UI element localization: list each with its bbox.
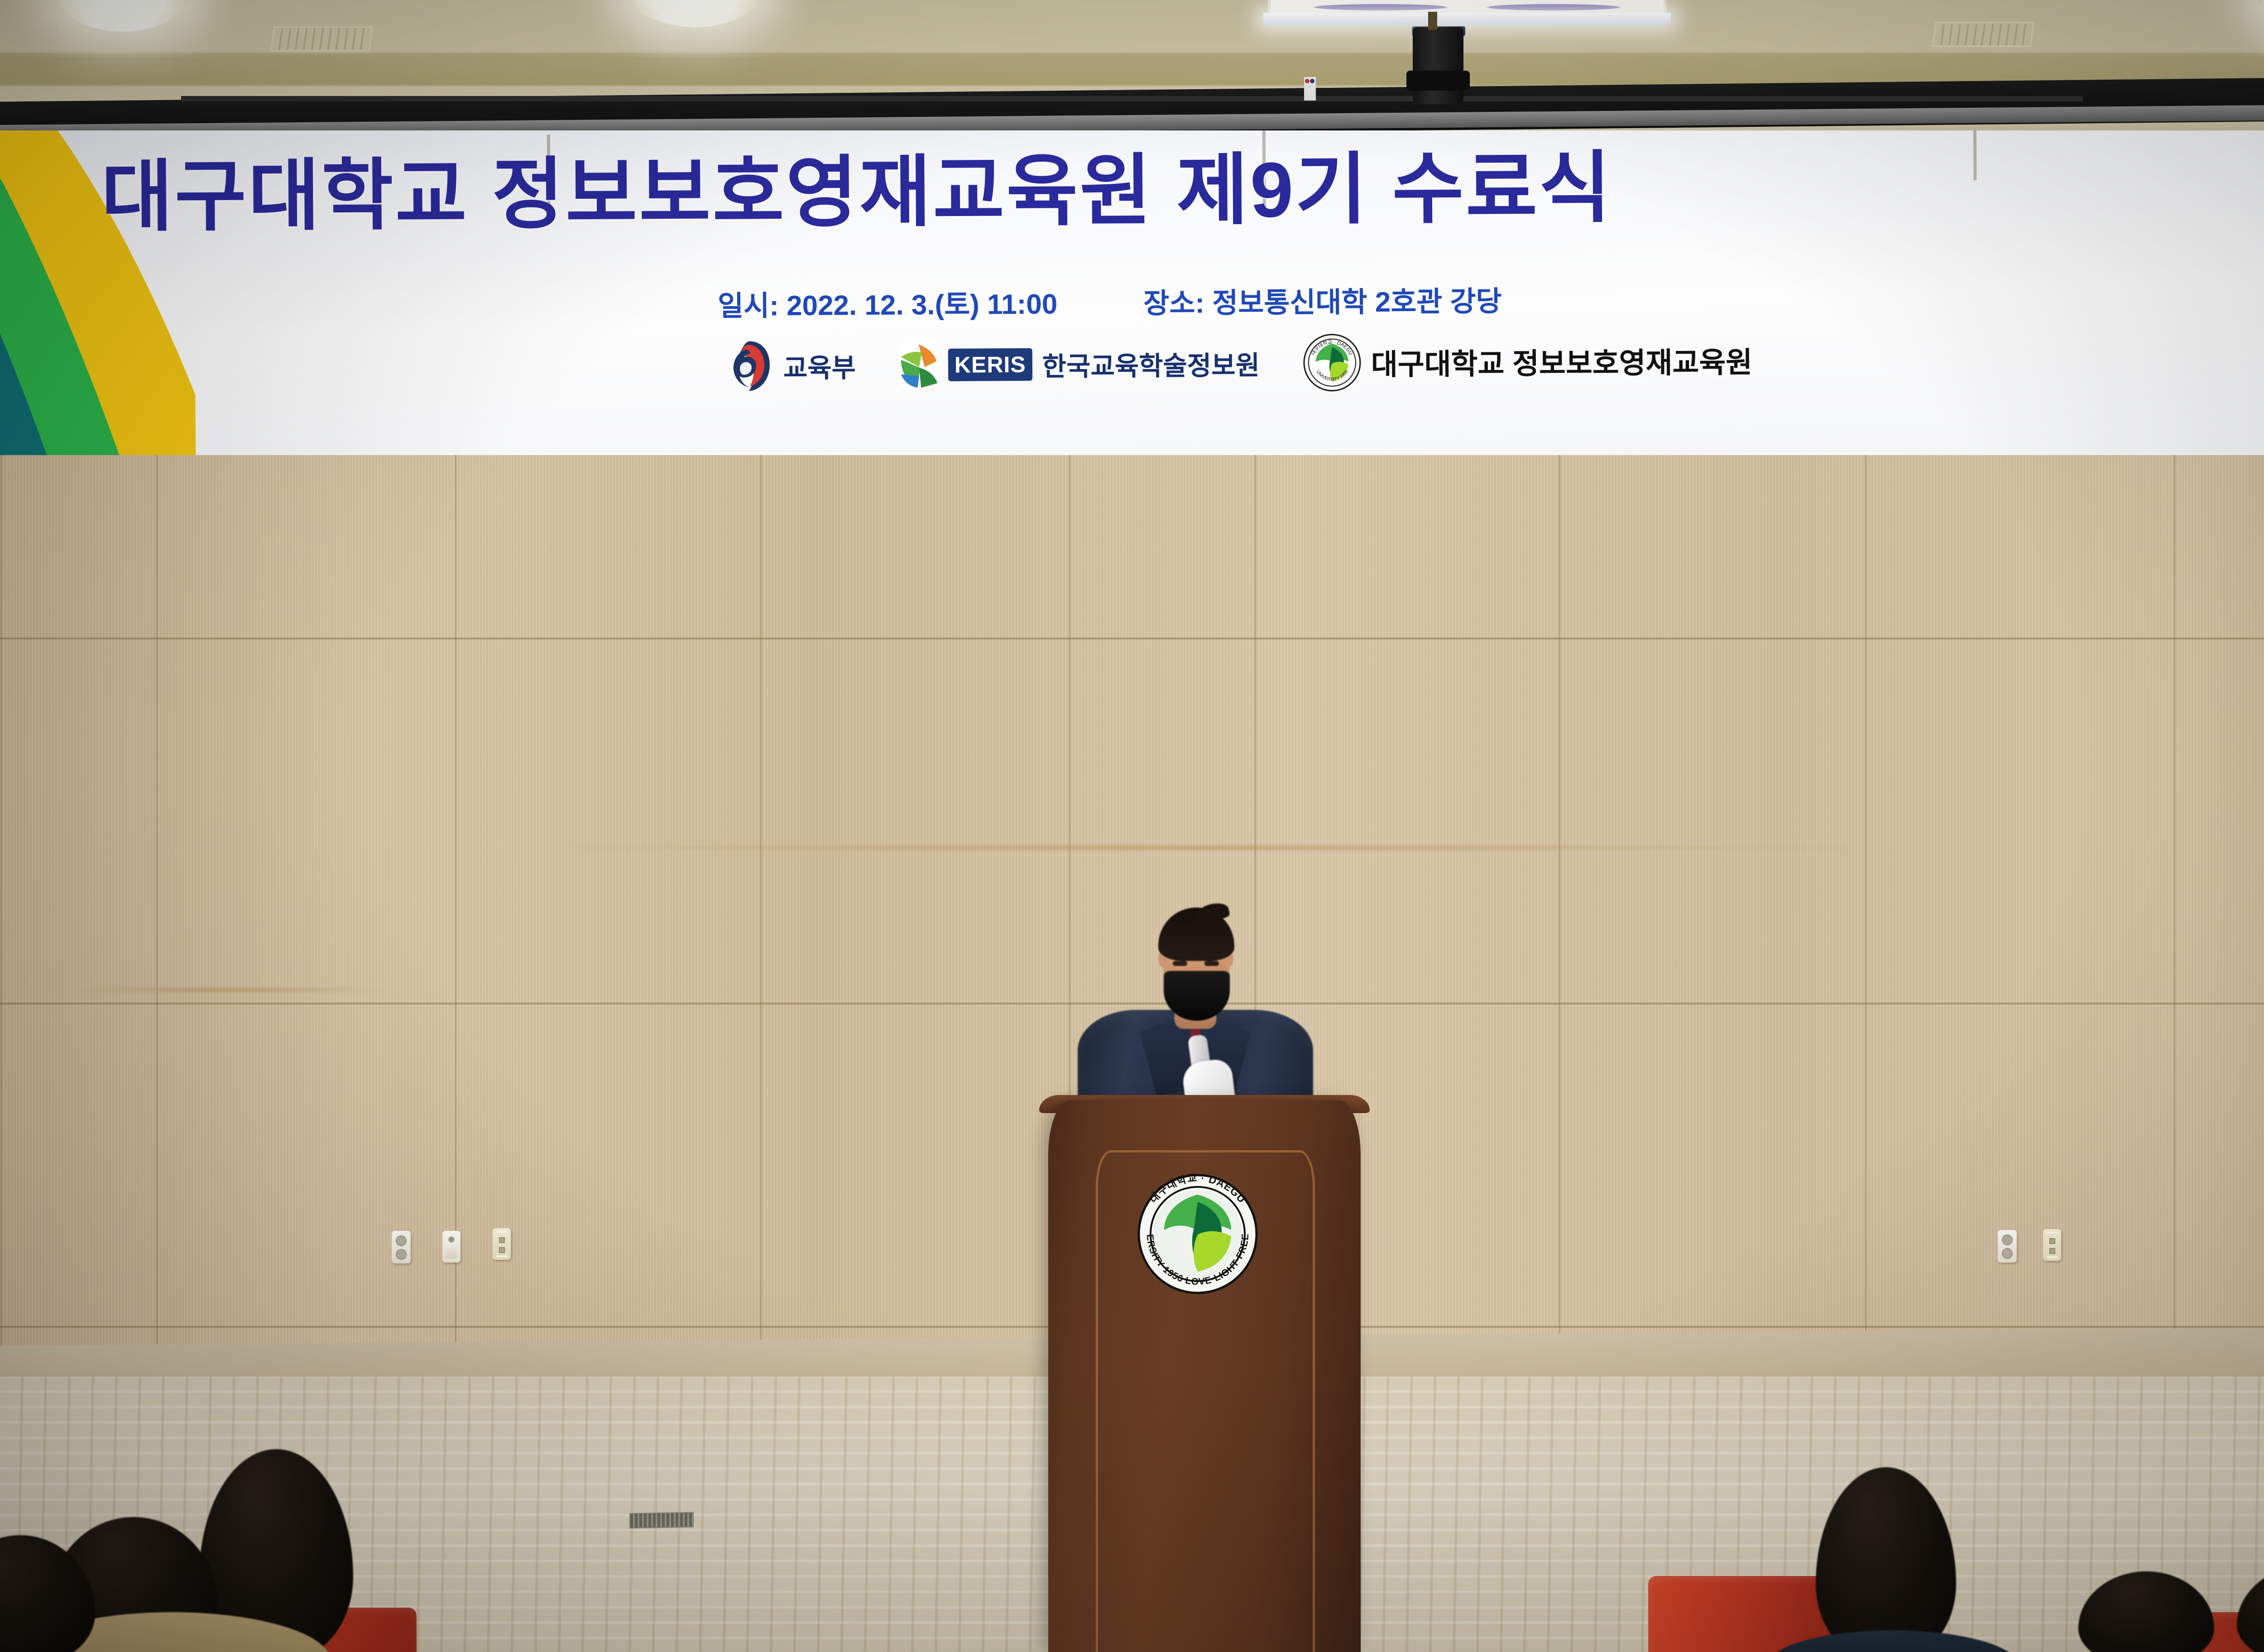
flag-red-dot (1305, 79, 1309, 83)
lectern-university-seal-icon: 대구대학교 · DAEGU UNIVERSITY 1956 LOVE·LIGHT… (1137, 1174, 1258, 1294)
outlet-socket (2002, 1234, 2013, 1245)
plate-screw (2047, 1256, 2058, 1258)
screen-light-glow (1263, 13, 1671, 24)
event-banner: 대구대학교 정보보호영재교육원 제9기 수료식 일시: 2022. 12. 3.… (0, 130, 2264, 456)
wall-panel-seam (0, 455, 2, 1370)
wall-panel-seam (2173, 455, 2176, 1370)
photograph-scene: 대구대학교 정보보호영재교육원 제9기 수료식 일시: 2022. 12. 3.… (0, 0, 2264, 1652)
air-vent-diffuser (1932, 22, 2035, 47)
banner-date: 일시: 2022. 12. 3.(토) 11:00 (718, 281, 1058, 324)
plate-screw (2047, 1232, 2058, 1234)
daegu-university-institute-logo: 대구대학교 · DAEGU UNIVERSITY 1956 대구대학교 정보보호… (1303, 331, 1753, 392)
plate-screw (496, 1231, 507, 1233)
wall-stain-mark (68, 988, 385, 992)
banner-logo-row: 교육부 KERIS 한국교육학술정보원 (0, 327, 2264, 399)
outlet-socket (2002, 1248, 2013, 1259)
hair (1158, 908, 1234, 961)
banner-title: 대구대학교 정보보호영재교육원 제9기 수료식 (101, 144, 2264, 236)
wall-panel-seam (760, 455, 762, 1370)
wall-panel-seam (1559, 455, 1561, 1370)
floor-air-vent-grille (629, 1512, 694, 1528)
wall-panel-seam (1865, 455, 1867, 1370)
korean-government-emblem-icon (726, 339, 773, 393)
phone-jack (499, 1247, 505, 1253)
keris-label: 한국교육학술정보원 (1042, 344, 1260, 384)
ceiling-projector (1413, 27, 1463, 104)
air-vent-diffuser (270, 26, 373, 52)
switch-rocker (446, 1246, 457, 1259)
banner-place: 장소: 정보통신대학 2호관 강당 (1143, 278, 1502, 321)
ministry-of-education-label: 교육부 (783, 346, 856, 385)
keris-wordmark: KERIS (948, 348, 1032, 381)
switch-plate[interactable] (442, 1231, 460, 1263)
power-outlet-duplex[interactable] (1998, 1230, 2017, 1263)
phone-jack (499, 1237, 505, 1243)
phone-jack-plate[interactable] (2043, 1229, 2061, 1261)
flag-blue-dot (1310, 79, 1314, 83)
eye (1173, 961, 1187, 966)
korean-flag-icon (1304, 77, 1316, 101)
power-outlet-duplex[interactable] (392, 1231, 411, 1263)
ministry-of-education-logo: 교육부 (726, 339, 856, 393)
wall-stain-mark (543, 845, 1856, 850)
plate-screw (496, 1255, 507, 1257)
wall-panel-seam (156, 455, 158, 1370)
ceiling-rail (181, 96, 2083, 101)
keris-leaf-mark-icon (899, 341, 939, 389)
outlet-socket (396, 1249, 407, 1260)
outlet-socket (396, 1235, 407, 1246)
phone-jack-plate[interactable] (493, 1228, 511, 1260)
wall-panel-seam-h (0, 637, 2264, 640)
eye (1204, 961, 1219, 966)
daegu-university-institute-label: 대구대학교 정보보호영재교육원 (1371, 339, 1753, 383)
keris-logo: KERIS 한국교육학술정보원 (899, 340, 1260, 389)
daegu-university-seal-icon: 대구대학교 · DAEGU UNIVERSITY 1956 (1303, 333, 1362, 392)
switch-button-icon (448, 1236, 455, 1243)
banner-subtitle-row: 일시: 2022. 12. 3.(토) 11:00 장소: 정보통신대학 2호관… (102, 273, 2264, 327)
phone-jack (2049, 1238, 2055, 1244)
phone-jack (2049, 1248, 2055, 1254)
